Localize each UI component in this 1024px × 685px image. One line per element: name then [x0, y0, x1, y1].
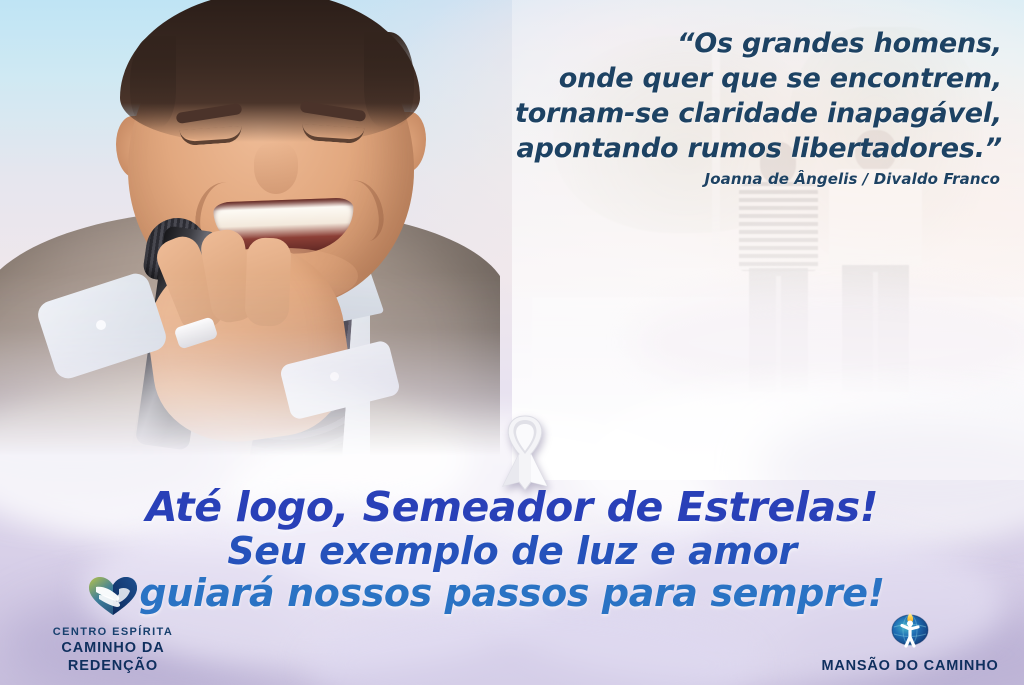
logo-left-line-1: CENTRO ESPÍRITA: [18, 626, 208, 640]
logo-mansao-do-caminho: MANSÃO DO CAMINHO: [810, 603, 1010, 675]
portrait-nose: [254, 142, 298, 194]
quote-line-1: “Os grandes homens,: [402, 26, 1002, 61]
logo-left-line-2: CAMINHO DA REDENÇÃO: [18, 640, 208, 675]
quote-attribution: Joanna de Ângelis / Divaldo Franco: [400, 170, 1000, 188]
white-ribbon-icon: [486, 410, 564, 492]
quote-text: “Os grandes homens, onde quer que se enc…: [402, 26, 1002, 166]
quote-line-3: tornam-se claridade inapagável,: [402, 96, 1002, 131]
headline-line-2: Seu exemplo de luz e amor: [0, 532, 1024, 571]
portrait-cuff-button: [96, 320, 106, 330]
headline-line-1: Até logo, Semeador de Estrelas!: [0, 487, 1024, 529]
heart-hands-icon: [18, 575, 208, 622]
quote-line-2: onde quer que se encontrem,: [402, 61, 1002, 96]
globe-figure-flame-icon: [810, 603, 1010, 654]
quote-line-4: apontando rumos libertadores.”: [402, 131, 1002, 166]
portrait-hair: [120, 0, 420, 142]
tribute-poster: “Os grandes homens, onde quer que se enc…: [0, 0, 1024, 685]
logo-right-line-1: MANSÃO DO CAMINHO: [810, 658, 1010, 675]
portrait-finger: [244, 237, 291, 326]
portrait-cuff-button: [330, 372, 339, 381]
logo-centro-espirita: CENTRO ESPÍRITA CAMINHO DA REDENÇÃO: [18, 575, 208, 675]
